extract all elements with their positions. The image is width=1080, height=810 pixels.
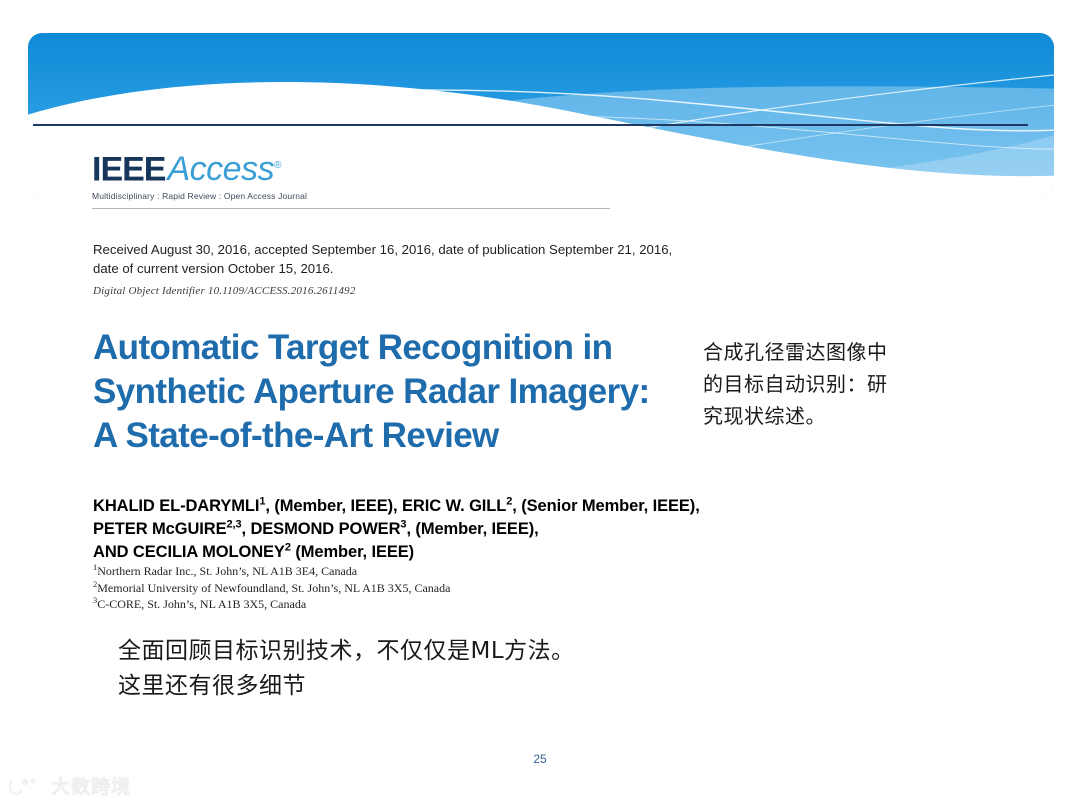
header-divider-rule (33, 124, 1028, 126)
author-line-1-end: , (Senior Member, IEEE), (512, 497, 699, 515)
paper-title-line-2: Synthetic Aperture Radar Imagery: (93, 370, 663, 414)
publication-dates-line-1: Received August 30, 2016, accepted Septe… (93, 240, 713, 259)
author-line-2-end: , (Member, IEEE), (406, 520, 538, 538)
author-name-mcguire: PETER McGUIRE (93, 520, 226, 538)
annotation-title-translation: 合成孔径雷达图像中 的目标自动识别：研 究现状综述。 (703, 336, 963, 432)
paper-title-line-1: Automatic Target Recognition in (93, 326, 663, 370)
author-line-1: KHALID EL-DARYMLI1, (Member, IEEE), ERIC… (93, 495, 823, 518)
publication-dates: Received August 30, 2016, accepted Septe… (93, 240, 713, 278)
watermark-text: 大数跨境 (51, 772, 131, 799)
author-affil-marker: 2,3 (226, 519, 241, 531)
logo-divider-rule (92, 208, 610, 209)
annotation-bottom-line-1: 全面回顾目标识别技术，不仅仅是ML方法。 (118, 634, 818, 669)
affiliation-item: 1Northern Radar Inc., St. John’s, NL A1B… (93, 563, 693, 580)
logo-tagline: Multidisciplinary : Rapid Review : Open … (92, 191, 392, 201)
affiliation-item: 3C-CORE, St. John’s, NL A1B 3X5, Canada (93, 596, 693, 613)
author-line-3-end: (Member, IEEE) (291, 543, 414, 561)
paper-title-line-3: A State-of-the-Art Review (93, 414, 663, 458)
author-line-3: AND CECILIA MOLONEY2 (Member, IEEE) (93, 541, 823, 564)
author-name-el-darymli: KHALID EL-DARYMLI (93, 497, 259, 515)
doi-identifier: Digital Object Identifier 10.1109/ACCESS… (93, 285, 356, 297)
slide-canvas: IEEEAccess® Multidisciplinary : Rapid Re… (0, 0, 1080, 810)
ieee-access-logo: IEEEAccess® Multidisciplinary : Rapid Re… (92, 148, 392, 201)
publication-dates-line-2: date of current version October 15, 2016… (93, 259, 713, 278)
author-line-2-mid: , DESMOND POWER (241, 520, 400, 538)
annotation-summary-note: 全面回顾目标识别技术，不仅仅是ML方法。 这里还有很多细节 (118, 634, 818, 704)
author-line-2: PETER McGUIRE2,3, DESMOND POWER3, (Membe… (93, 518, 823, 541)
affiliation-text: C-CORE, St. John’s, NL A1B 3X5, Canada (97, 597, 306, 611)
affiliation-item: 2Memorial University of Newfoundland, St… (93, 580, 693, 597)
page-number: 25 (0, 752, 1080, 766)
author-list: KHALID EL-DARYMLI1, (Member, IEEE), ERIC… (93, 495, 823, 564)
logo-wordmark: IEEEAccess® (92, 148, 392, 187)
page-title: Automatic Target Recognition in Syntheti… (93, 326, 663, 458)
annotation-right-line-3: 究现状综述。 (703, 400, 963, 432)
watermark: 大数跨境 (8, 772, 131, 799)
logo-access-text: Access (167, 150, 274, 188)
affiliation-list: 1Northern Radar Inc., St. John’s, NL A1B… (93, 563, 693, 613)
annotation-bottom-line-2: 这里还有很多细节 (118, 669, 818, 704)
author-name-moloney: AND CECILIA MOLONEY (93, 543, 285, 561)
affiliation-text: Northern Radar Inc., St. John’s, NL A1B … (97, 564, 357, 578)
logo-ieee-text: IEEE (92, 150, 165, 188)
watermark-logo-icon (8, 775, 44, 797)
author-line-1-mid: , (Member, IEEE), ERIC W. GILL (265, 497, 506, 515)
affiliation-text: Memorial University of Newfoundland, St.… (97, 581, 450, 595)
logo-trademark-icon: ® (274, 160, 281, 171)
annotation-right-line-1: 合成孔径雷达图像中 (703, 336, 963, 368)
annotation-right-line-2: 的目标自动识别：研 (703, 368, 963, 400)
